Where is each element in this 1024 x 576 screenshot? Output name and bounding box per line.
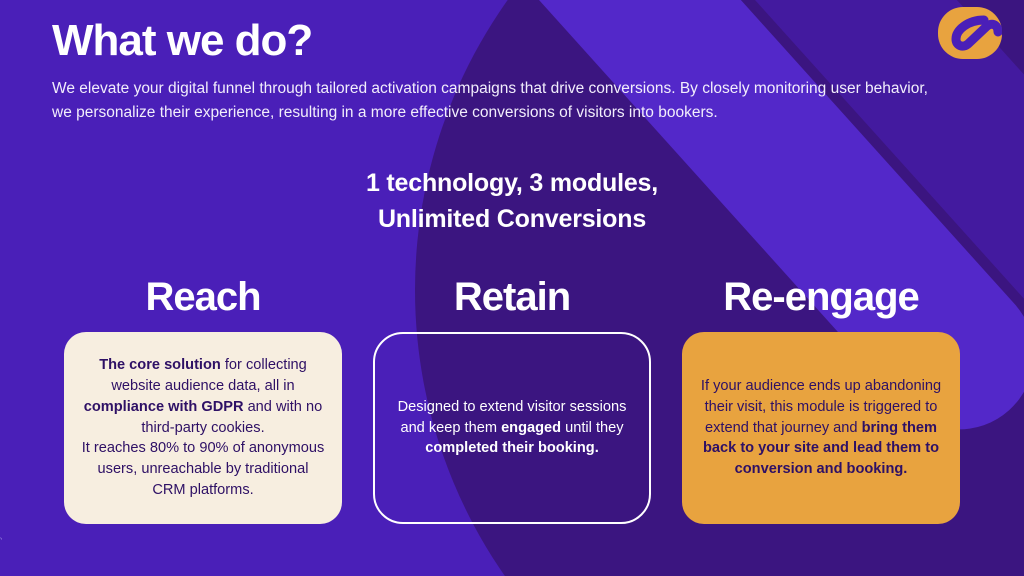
module-title-retain: Retain — [454, 275, 570, 319]
module-card-text-reengage: If your audience ends up abandoning thei… — [698, 376, 944, 480]
module-card-reengage: If your audience ends up abandoning thei… — [682, 332, 960, 524]
watermark-label: SaleCycle — [0, 523, 2, 566]
slide-canvas: SaleCycle What we do? We elevate your di… — [0, 0, 1024, 576]
module-column-reengage: Re-engage If your audience ends up aband… — [682, 275, 960, 524]
modules-row: Reach The core solution for collecting w… — [0, 275, 1024, 524]
subtitle-block: 1 technology, 3 modules, Unlimited Conve… — [0, 165, 1024, 238]
module-column-reach: Reach The core solution for collecting w… — [64, 275, 342, 524]
subtitle-line-1: 1 technology, 3 modules, — [0, 165, 1024, 201]
module-card-reach: The core solution for collecting website… — [64, 332, 342, 524]
module-column-retain: Retain Designed to extend visitor sessio… — [373, 275, 651, 524]
module-card-text-retain: Designed to extend visitor sessions and … — [391, 397, 633, 459]
page-title: What we do? — [52, 16, 952, 67]
module-card-retain: Designed to extend visitor sessions and … — [373, 332, 651, 524]
intro-paragraph: We elevate your digital funnel through t… — [52, 77, 947, 125]
module-title-reach: Reach — [145, 275, 260, 319]
subtitle-line-2: Unlimited Conversions — [0, 201, 1024, 237]
module-title-reengage: Re-engage — [723, 275, 919, 319]
module-card-text-reach: The core solution for collecting website… — [80, 355, 326, 500]
header-block: What we do? We elevate your digital funn… — [52, 16, 952, 125]
